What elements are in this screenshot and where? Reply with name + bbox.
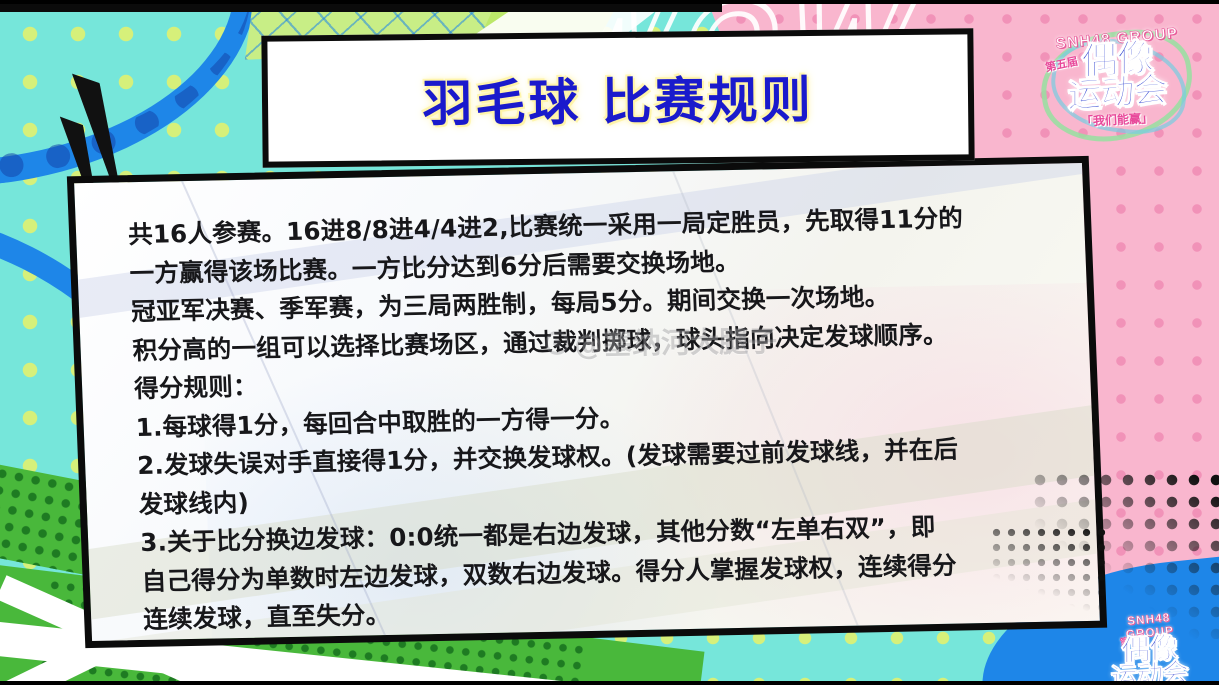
frame-bottom-bar xyxy=(0,681,1219,685)
title-panel: 羽毛球 比赛规则 xyxy=(261,28,974,167)
rules-panel: 共16人参赛。16进8/8进4/4进2,比赛统一采用一局定胜员，先取得11分的 … xyxy=(67,156,1107,648)
page-title: 羽毛球 比赛规则 xyxy=(422,60,814,136)
event-logo-small: SNH48 GROUP 第五届 偶像 运动会 「我们能赢」 xyxy=(1106,607,1193,669)
bottom-right-halftone-small xyxy=(989,525,1109,645)
event-logo: SNH48 GROUP 第五届 偶像 运动会 「我们能赢」 xyxy=(1027,22,1207,152)
frame-top-bar xyxy=(0,0,1219,4)
slide-canvas: WOW 羽毛球 比赛规则 共16人参赛。16进8/8进4/4进2,比赛统一 xyxy=(0,0,1219,685)
rules-text-block: 共16人参赛。16进8/8进4/4进2,比赛统一采用一局定胜员，先取得11分的 … xyxy=(74,163,1100,640)
